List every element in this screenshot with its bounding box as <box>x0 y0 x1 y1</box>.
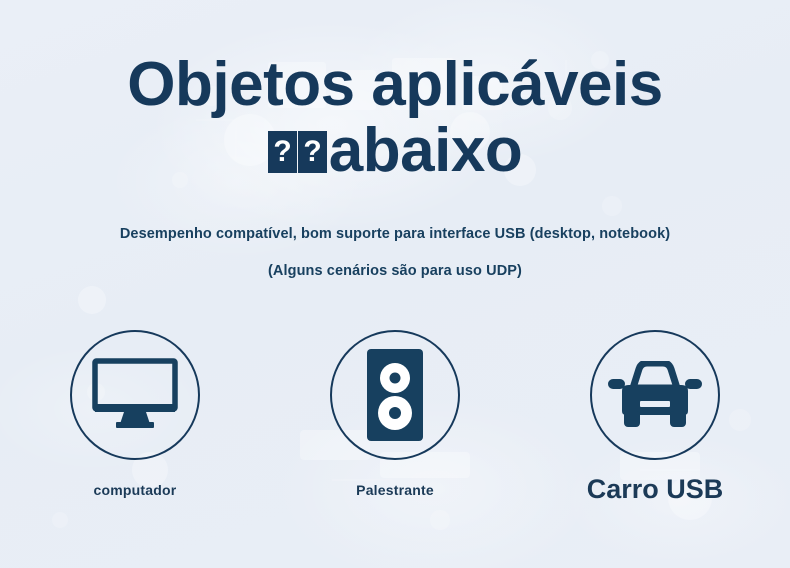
subtitle-block: Desempenho compatível, bom suporte para … <box>0 226 790 280</box>
item-label-computador: computador <box>94 482 177 498</box>
item-computador: computador <box>35 330 235 505</box>
icon-circle-computador <box>70 330 200 460</box>
page-title-line-2-text: abaixo <box>329 118 522 184</box>
missing-glyph-box-1: ? <box>268 131 297 173</box>
car-icon <box>608 361 702 429</box>
desktop-monitor-icon <box>92 358 178 432</box>
item-label-palestrante: Palestrante <box>356 482 434 498</box>
items-row: computador Palestrante <box>0 330 790 505</box>
page-title-line-2: ??abaixo <box>0 118 790 184</box>
item-carro-usb: Carro USB <box>555 330 755 505</box>
item-palestrante: Palestrante <box>295 330 495 505</box>
page-title-line-1: Objetos aplicáveis <box>0 52 790 118</box>
subtitle-line-1: Desempenho compatível, bom suporte para … <box>0 226 790 243</box>
subtitle-line-2: (Alguns cenários são para uso UDP) <box>0 263 790 280</box>
slide-canvas: Objetos aplicáveis ??abaixo Desempenho c… <box>0 0 790 568</box>
missing-glyph-box-2: ? <box>298 131 327 173</box>
icon-circle-palestrante <box>330 330 460 460</box>
icon-circle-carro-usb <box>590 330 720 460</box>
title-block: Objetos aplicáveis ??abaixo <box>0 52 790 184</box>
item-label-carro-usb: Carro USB <box>587 474 724 505</box>
speaker-icon <box>367 349 423 441</box>
